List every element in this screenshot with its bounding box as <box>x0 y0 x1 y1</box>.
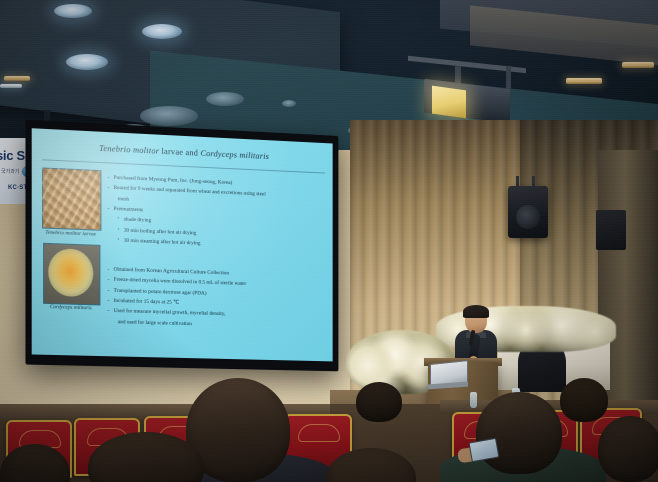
presenter-hair <box>463 305 489 318</box>
slide-title-conjunction: larvae and <box>159 147 200 158</box>
slide-bullets-group-b: Obtained from Korean Agricultural Cultur… <box>108 264 323 332</box>
cordyceps-plate-caption: Cordyceps militaris <box>41 304 100 312</box>
ceiling-downlight-icon <box>66 54 108 70</box>
speaker-cone-icon <box>516 205 540 229</box>
ceiling-strip-light-icon <box>566 78 602 84</box>
ceiling-downlight-icon <box>206 92 244 106</box>
slide-bullets-group-a: Purchased from Myeong Pum, Inc. (Jung-se… <box>108 172 323 253</box>
projection-screen-frame: Tenebrio molitor larvae and Cordyceps mi… <box>25 120 338 372</box>
projector-lens-glow-icon <box>432 86 466 119</box>
audience-head <box>476 392 562 474</box>
presentation-room-photo: sic Scie 국가과기 · 연구회 KC·ST Tenebrio molit… <box>0 0 658 482</box>
ceiling-downlight-icon <box>54 4 92 18</box>
ceiling-strip-light-icon <box>0 84 22 88</box>
ceiling-strip-light-icon <box>622 62 654 68</box>
tenebrio-larvae-photo <box>42 167 101 230</box>
petri-dish-icon <box>48 248 93 297</box>
audience-head <box>356 382 402 422</box>
water-bottle <box>470 392 477 408</box>
ceiling-downlight-icon <box>142 24 182 39</box>
ceiling-strip-light-icon <box>4 76 30 81</box>
ceiling-downlight-icon <box>282 100 296 107</box>
wall-speaker-secondary <box>596 210 626 250</box>
audience-head <box>560 378 608 422</box>
slide-title-species-2: Cordyceps militaris <box>200 149 269 161</box>
slide-title-species-1: Tenebrio molitor <box>99 144 159 156</box>
audience-head <box>598 416 658 482</box>
tenebrio-larvae-caption: Tenebrio molitor larvae <box>41 229 100 237</box>
projected-slide: Tenebrio molitor larvae and Cordyceps mi… <box>32 128 333 361</box>
banner-org-label: KC·ST <box>8 185 27 191</box>
ceiling-downlight-icon <box>140 106 198 126</box>
